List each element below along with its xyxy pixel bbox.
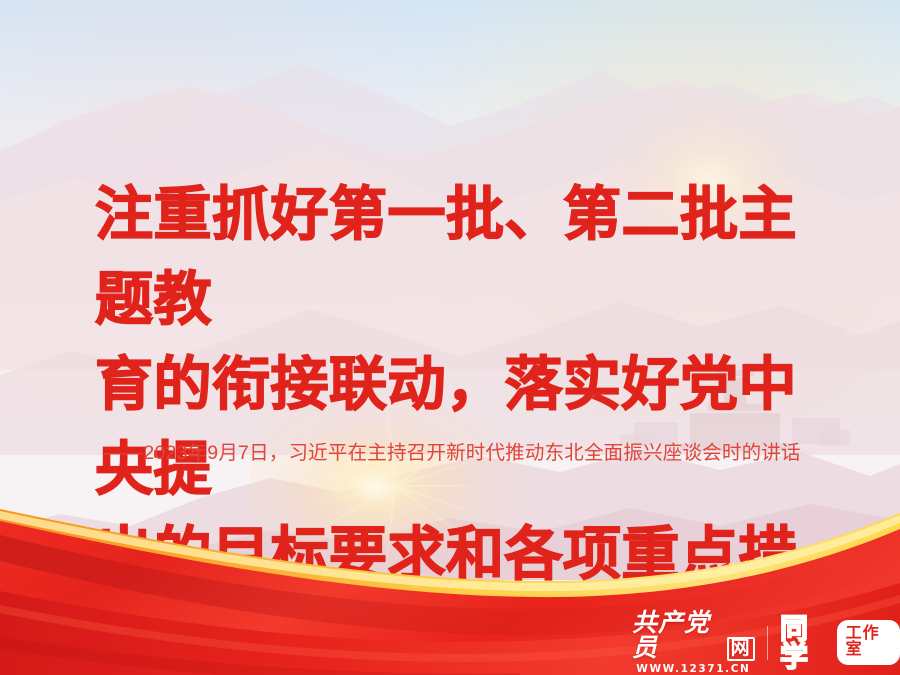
logo-studio-tag: 工作室 [837, 620, 900, 665]
logo-tongxue-studio[interactable]: 同学 工作室 [780, 615, 900, 671]
quote-attribution: ——2023年9月7日，习近平在主持召开新时代推动东北全面振兴座谈会时的讲话 [104, 437, 834, 470]
logo-site-url[interactable]: WWW.12371.CN [636, 664, 750, 675]
logo-site-suffix: 网 [727, 637, 755, 661]
logo-studio-name: 同学 [780, 615, 832, 671]
logo-site-name: 共产党员 [632, 611, 724, 661]
logo-gongchandangyuanwang[interactable]: 共产党员 网 WWW.12371.CN [632, 611, 755, 675]
quote-headline: 注重抓好第一批、第二批主题教 育的衔接联动，落实好党中央提 出的目标要求和各项重… [95, 172, 825, 675]
logo-site-name-row: 共产党员 网 [632, 611, 755, 661]
logo-divider [767, 626, 768, 660]
logo-lockup[interactable]: 共产党员 网 WWW.12371.CN 同学 工作室 [632, 611, 900, 675]
poster-canvas: 注重抓好第一批、第二批主题教 育的衔接联动，落实好党中央提 出的目标要求和各项重… [0, 0, 900, 675]
